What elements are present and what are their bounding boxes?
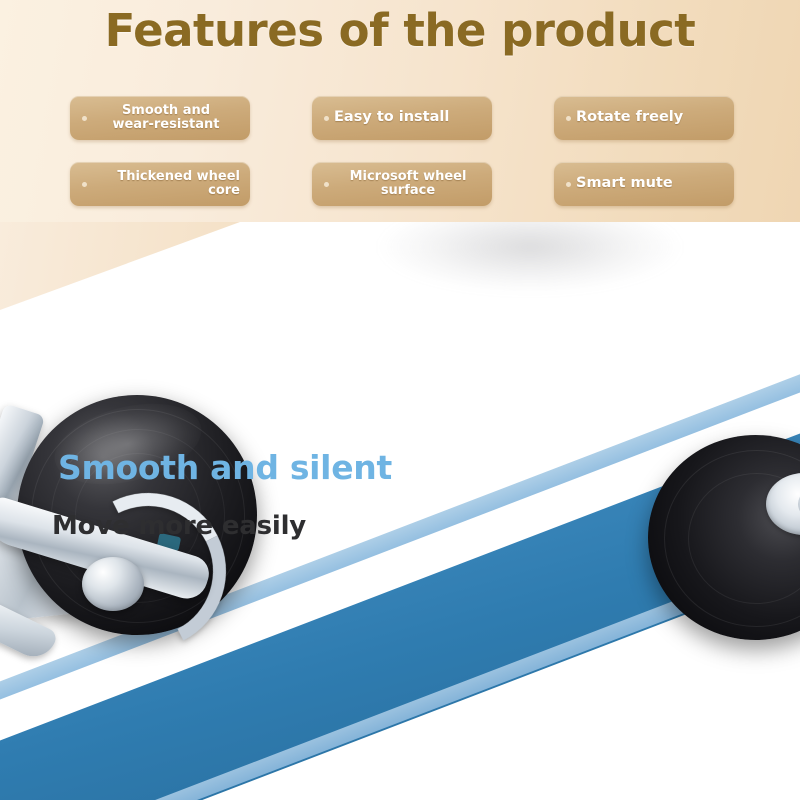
product-feature-poster: Smooth and silent Move more easily Rubbe… [0, 0, 800, 800]
feature-label-line-1: Thickened wheel [117, 169, 240, 184]
bullet-dot-icon [82, 182, 87, 187]
feature-label-line-1: Smooth and [122, 103, 210, 118]
showcase-subheadline: Move more easily [52, 511, 306, 541]
bullet-dot-icon [566, 182, 571, 187]
product-showcase-stage: Smooth and silent Move more easily Rubbe… [0, 210, 800, 800]
feature-pill-easy-to-install[interactable]: Easy to install [312, 96, 492, 140]
feature-pill-smooth-and-wear-resistant[interactable]: Smooth and wear-resistant [70, 96, 250, 140]
feature-pill-label: Smooth and wear-resistant [92, 104, 240, 132]
feature-pill-label: Rotate freely [576, 110, 724, 126]
feature-label-line-2: surface [381, 183, 435, 198]
feature-pill-label: Thickened wheel core [92, 170, 240, 198]
feature-pill-rotate-freely[interactable]: Rotate freely [554, 96, 734, 140]
feature-label-line-2: core [208, 183, 240, 198]
feature-pill-microsoft-wheel-surface[interactable]: Microsoft wheel surface [312, 162, 492, 206]
feature-pill-label: Smart mute [576, 176, 724, 192]
showcase-headline: Smooth and silent [58, 448, 392, 487]
swivel-ball-bearing-cap [82, 557, 144, 611]
feature-pill-grid: Smooth and wear-resistant Easy to instal… [70, 96, 750, 206]
backdrop-shadow [380, 210, 680, 292]
bullet-dot-icon [324, 182, 329, 187]
page-title: Features of the product [0, 4, 800, 57]
feature-label-line-2: wear-resistant [112, 117, 219, 132]
feature-label-line-1: Microsoft wheel [350, 169, 467, 184]
feature-pill-label: Easy to install [334, 110, 482, 126]
bullet-dot-icon [324, 116, 329, 121]
feature-pill-label: Microsoft wheel surface [334, 170, 482, 198]
bullet-dot-icon [82, 116, 87, 121]
feature-pill-thickened-wheel-core[interactable]: Thickened wheel core [70, 162, 250, 206]
rubber-wheel-hub-image [648, 435, 800, 650]
bullet-dot-icon [566, 116, 571, 121]
wheel-rubber-tread [648, 435, 800, 640]
feature-pill-smart-mute[interactable]: Smart mute [554, 162, 734, 206]
